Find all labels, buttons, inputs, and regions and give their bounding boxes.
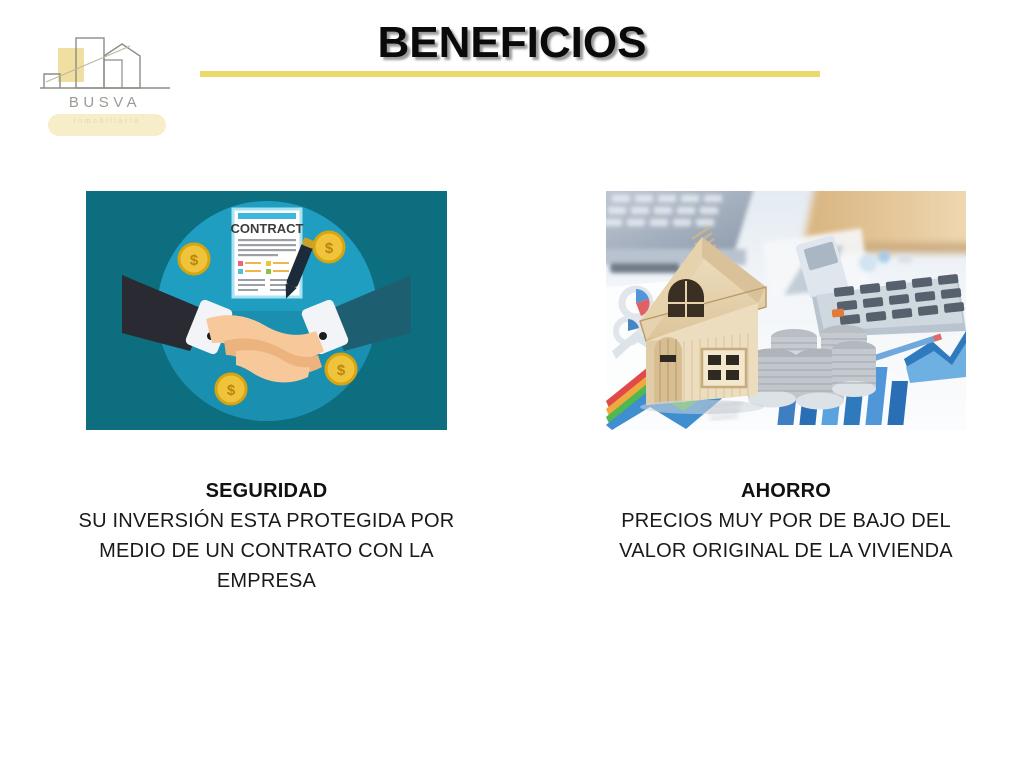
caption-title: SEGURIDAD: [56, 476, 477, 506]
slide-root: BUSVA Inmobiliaria BENEFICIOS CONTRACT: [0, 0, 1024, 768]
house-model-coins-calculator-photo: [606, 191, 966, 430]
caption-title: AHORRO: [590, 476, 982, 506]
caption-body: PRECIOS MUY POR DE BAJO DEL VALOR ORIGIN…: [590, 506, 982, 566]
brand-name: BUSVA: [30, 94, 180, 111]
brand-subtitle: Inmobiliaria: [48, 118, 166, 125]
svg-text:$: $: [337, 362, 346, 379]
benefit-column-seguridad: CONTRACT: [86, 191, 447, 430]
brand-subtitle-pill: Inmobiliaria: [48, 114, 166, 136]
svg-text:$: $: [190, 252, 199, 269]
benefit-caption-seguridad: SEGURIDAD SU INVERSIÓN ESTA PROTEGIDA PO…: [56, 476, 477, 596]
page-title: BENEFICIOS: [0, 18, 1024, 68]
handshake-contract-illustration: CONTRACT: [86, 191, 447, 430]
benefit-column-ahorro: AHORRO PRECIOS MUY POR DE BAJO DEL VALOR…: [606, 191, 966, 430]
benefit-caption-ahorro: AHORRO PRECIOS MUY POR DE BAJO DEL VALOR…: [590, 476, 982, 566]
svg-text:CONTRACT: CONTRACT: [231, 221, 304, 236]
svg-text:$: $: [325, 240, 334, 257]
title-underline-rule: [200, 71, 820, 77]
caption-body: SU INVERSIÓN ESTA PROTEGIDA POR MEDIO DE…: [56, 506, 477, 596]
svg-text:$: $: [227, 382, 236, 399]
